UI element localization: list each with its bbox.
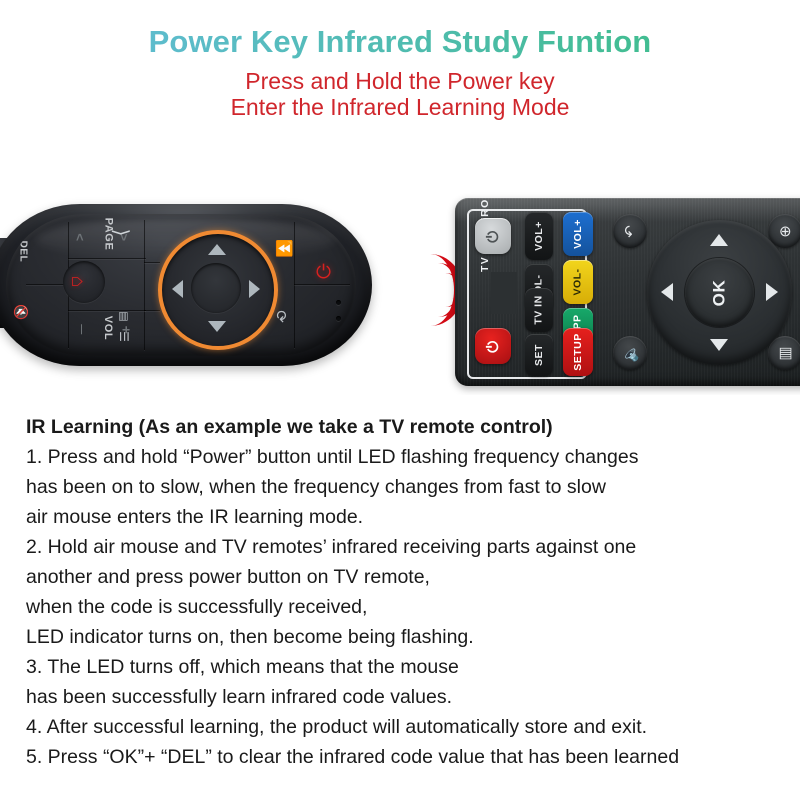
keypad-divider bbox=[68, 310, 146, 311]
led-dot bbox=[336, 332, 341, 337]
key-label: VOL+ bbox=[533, 221, 545, 251]
tv-key-color-vol-up[interactable]: VOL+ bbox=[563, 212, 593, 256]
air-mouse-power-icon[interactable]: ⏻ bbox=[316, 262, 331, 284]
tv-dpad[interactable]: OK bbox=[647, 220, 792, 365]
instruction-line: air mouse enters the IR learning mode. bbox=[26, 502, 778, 532]
key-label: VOL- bbox=[572, 268, 584, 295]
tv-key-setup[interactable]: SETUP bbox=[563, 328, 593, 376]
tv-key-tv-in[interactable]: TV IN bbox=[525, 288, 553, 332]
key-label: SET bbox=[533, 344, 545, 366]
mouse-mode-icon[interactable]: ⟳ bbox=[274, 310, 287, 323]
dpad-up-icon[interactable] bbox=[208, 244, 226, 255]
tv-back-button[interactable]: ↶ bbox=[613, 214, 647, 248]
infrared-waves bbox=[398, 252, 462, 328]
subtitle-line-2: Enter the Infrared Learning Mode bbox=[0, 94, 800, 120]
led-dot bbox=[336, 316, 341, 321]
instruction-line: 4. After successful learning, the produc… bbox=[26, 712, 778, 742]
keypad-divider bbox=[294, 284, 350, 285]
keypad-divider bbox=[144, 220, 145, 350]
ok-label: OK bbox=[709, 279, 729, 306]
tv-mute-button[interactable]: 🔈 bbox=[613, 336, 647, 370]
dpad-right-icon[interactable] bbox=[249, 280, 260, 298]
source-input-icon: ⊕ bbox=[777, 225, 792, 238]
key-label: SETUP bbox=[572, 333, 584, 371]
power-icon: ⏻ bbox=[485, 340, 502, 352]
instructions-heading: IR Learning (As an example we take a TV … bbox=[26, 412, 778, 442]
instruction-line: 3. The LED turns off, which means that t… bbox=[26, 652, 778, 682]
instruction-line: 1. Press and hold “Power” button until L… bbox=[26, 442, 778, 472]
page-header: Power Key Infrared Study Funtion Press a… bbox=[0, 0, 800, 120]
subtitle-line-1: Press and Hold the Power key bbox=[0, 68, 800, 94]
illustration-band: DEL 🔇 PAGE < > ⌂ VOL — + ⟩ ▤ ☰ bbox=[0, 180, 800, 395]
back-icon[interactable]: ⟩ bbox=[113, 229, 126, 237]
page-title: Power Key Infrared Study Funtion bbox=[0, 0, 800, 60]
dpad-up-icon[interactable] bbox=[710, 234, 728, 246]
tv-remote-control: TV CONTROL ⏻ ⏻ VOL+ VOL- TV IN bbox=[455, 198, 800, 388]
instruction-line: has been on to slow, when the frequency … bbox=[26, 472, 778, 502]
air-mouse-vol-label[interactable]: VOL bbox=[102, 316, 114, 340]
tv-ok-button[interactable]: OK bbox=[685, 258, 754, 327]
keypad-divider bbox=[144, 262, 160, 263]
key-label: TV IN bbox=[533, 295, 545, 324]
bracket-label-gap bbox=[491, 272, 517, 314]
tv-key-vol-up[interactable]: VOL+ bbox=[525, 212, 553, 260]
air-mouse-home-button[interactable]: ⌂ bbox=[63, 261, 105, 303]
air-mouse-keypad: DEL 🔇 PAGE < > ⌂ VOL — + ⟩ ▤ ☰ bbox=[6, 214, 356, 356]
instruction-line: when the code is successfully received, bbox=[26, 592, 778, 622]
keypad-divider bbox=[68, 258, 146, 259]
dpad-down-icon[interactable] bbox=[710, 339, 728, 351]
tv-power-red-button[interactable]: ⏻ bbox=[475, 328, 511, 364]
dpad-right-icon[interactable] bbox=[766, 283, 778, 301]
instruction-line: another and press power button on TV rem… bbox=[26, 562, 778, 592]
air-mouse-del-label[interactable]: DEL bbox=[17, 241, 28, 263]
app-icon[interactable]: ▤ bbox=[117, 311, 130, 321]
dpad-left-icon[interactable] bbox=[661, 283, 673, 301]
instruction-line: LED indicator turns on, then become bein… bbox=[26, 622, 778, 652]
tv-key-set[interactable]: SET bbox=[525, 334, 553, 376]
instruction-line: 5. Press “OK”+ “DEL” to clear the infrar… bbox=[26, 742, 778, 772]
mute-icon[interactable]: 🔇 bbox=[15, 304, 28, 320]
keypad-divider bbox=[294, 222, 295, 348]
dpad-down-icon[interactable] bbox=[208, 321, 226, 332]
dpad-left-icon[interactable] bbox=[172, 280, 183, 298]
air-mouse-dpad[interactable] bbox=[158, 230, 278, 350]
tv-remote-body: TV CONTROL ⏻ ⏻ VOL+ VOL- TV IN bbox=[455, 198, 800, 386]
subtitle-block: Press and Hold the Power key Enter the I… bbox=[0, 68, 800, 120]
menu-icon: ▥ bbox=[778, 346, 793, 360]
home-icon: ⌂ bbox=[68, 276, 87, 287]
tv-power-grey-button[interactable]: ⏻ bbox=[475, 218, 511, 254]
back-icon: ↶ bbox=[622, 225, 637, 238]
led-indicator-dots bbox=[336, 300, 341, 348]
power-icon: ⏻ bbox=[485, 230, 502, 242]
eject-icon[interactable]: ⏬ bbox=[277, 239, 290, 258]
mute-icon: 🔈 bbox=[623, 344, 638, 363]
product-instruction-page: Power Key Infrared Study Funtion Press a… bbox=[0, 0, 800, 800]
instruction-line: has been successfully learn infrared cod… bbox=[26, 682, 778, 712]
key-label: VOL+ bbox=[572, 219, 584, 249]
air-mouse-remote: DEL 🔇 PAGE < > ⌂ VOL — + ⟩ ▤ ☰ bbox=[0, 194, 372, 376]
page-up-icon[interactable]: < bbox=[73, 233, 88, 241]
tv-key-color-vol-down[interactable]: VOL- bbox=[563, 260, 593, 304]
keypad-divider bbox=[144, 310, 160, 311]
vol-down-icon[interactable]: — bbox=[76, 324, 87, 335]
instruction-line: 2. Hold air mouse and TV remotes’ infrar… bbox=[26, 532, 778, 562]
instructions-block: IR Learning (As an example we take a TV … bbox=[26, 412, 778, 772]
menu-icon[interactable]: ☰ bbox=[117, 331, 130, 342]
led-dot bbox=[336, 300, 341, 305]
